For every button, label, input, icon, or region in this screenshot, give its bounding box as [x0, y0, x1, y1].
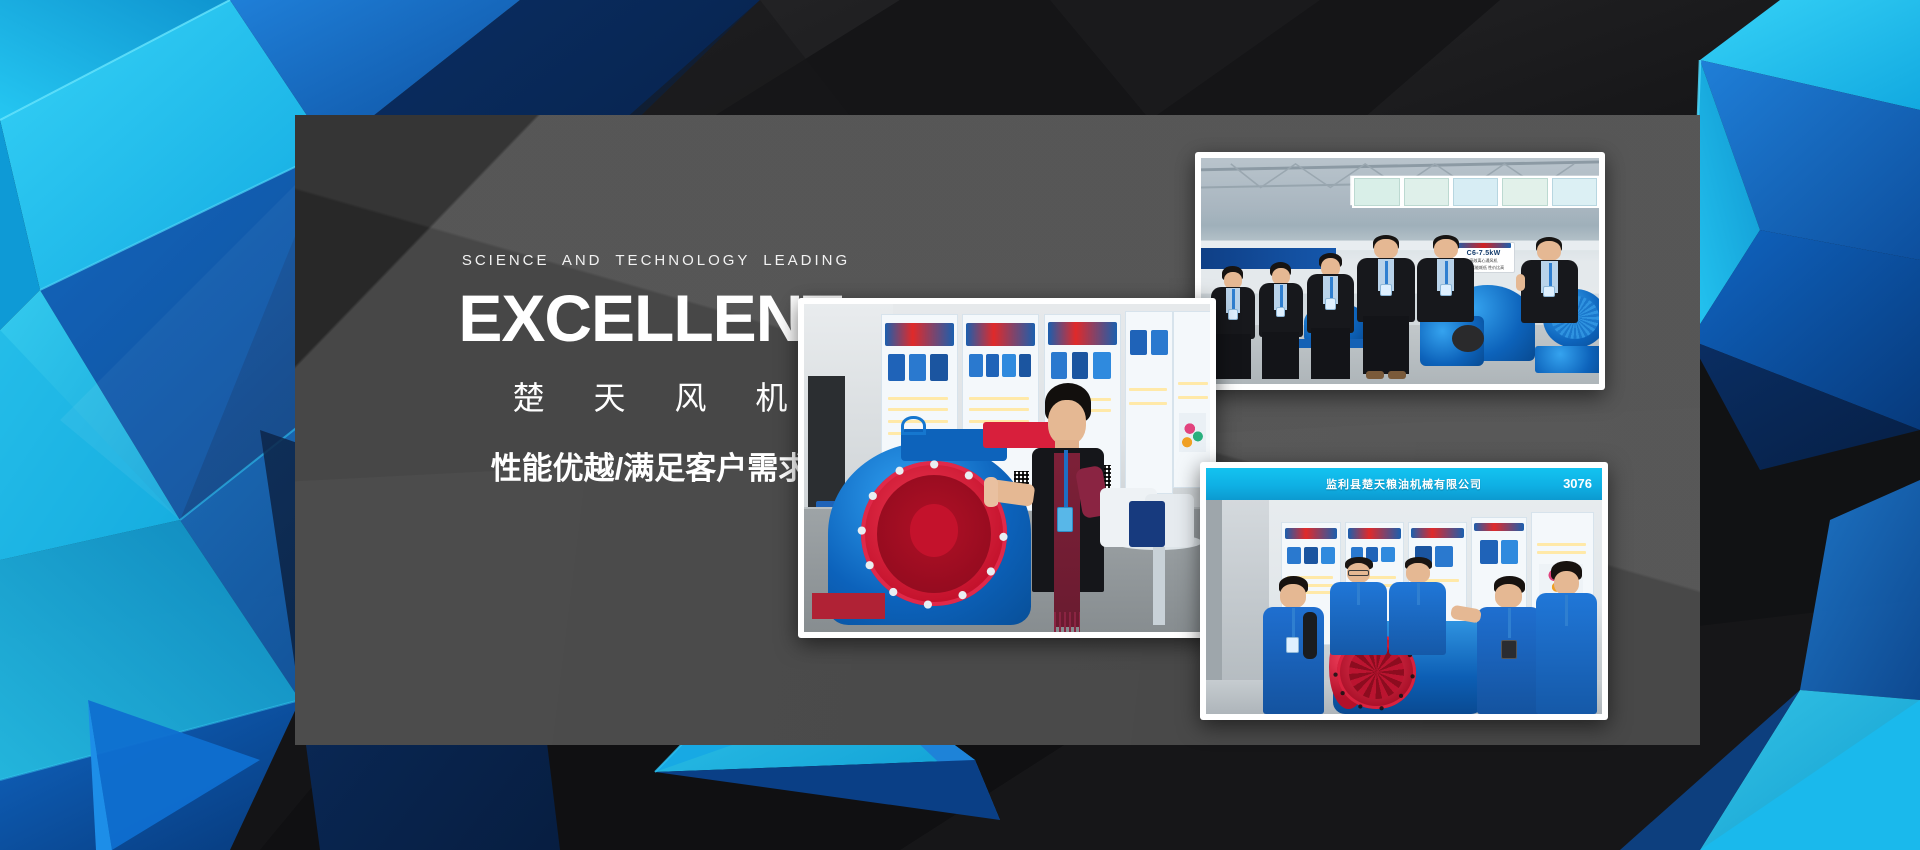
- photo-hostess-scene: [804, 304, 1210, 632]
- photo-booth-hostess-with-fan: [798, 298, 1216, 638]
- booth-number: 3076: [1563, 476, 1592, 491]
- photo-team-suits-scene: C6-7.5kW 高效离心通风机 低噪音能耗低 性价比高: [1201, 158, 1599, 384]
- hero-eyebrow: SCIENCE AND TECHNOLOGY LEADING: [342, 252, 970, 269]
- booth-company-name: 监利县楚天粮油机械有限公司: [1326, 476, 1482, 492]
- booth-banner: 监利县楚天粮油机械有限公司 3076: [1206, 468, 1602, 500]
- hero-banner: SCIENCE AND TECHNOLOGY LEADING EXCELLENT…: [0, 0, 1920, 850]
- photo-exhibition-team-in-suits: C6-7.5kW 高效离心通风机 低噪音能耗低 性价比高: [1195, 152, 1605, 390]
- hostess-figure: [1023, 383, 1112, 632]
- photo-exhibition-team-in-blue-polos: 监利县楚天粮油机械有限公司 3076: [1200, 462, 1608, 720]
- photo-team-blue-scene: 监利县楚天粮油机械有限公司 3076: [1206, 468, 1602, 714]
